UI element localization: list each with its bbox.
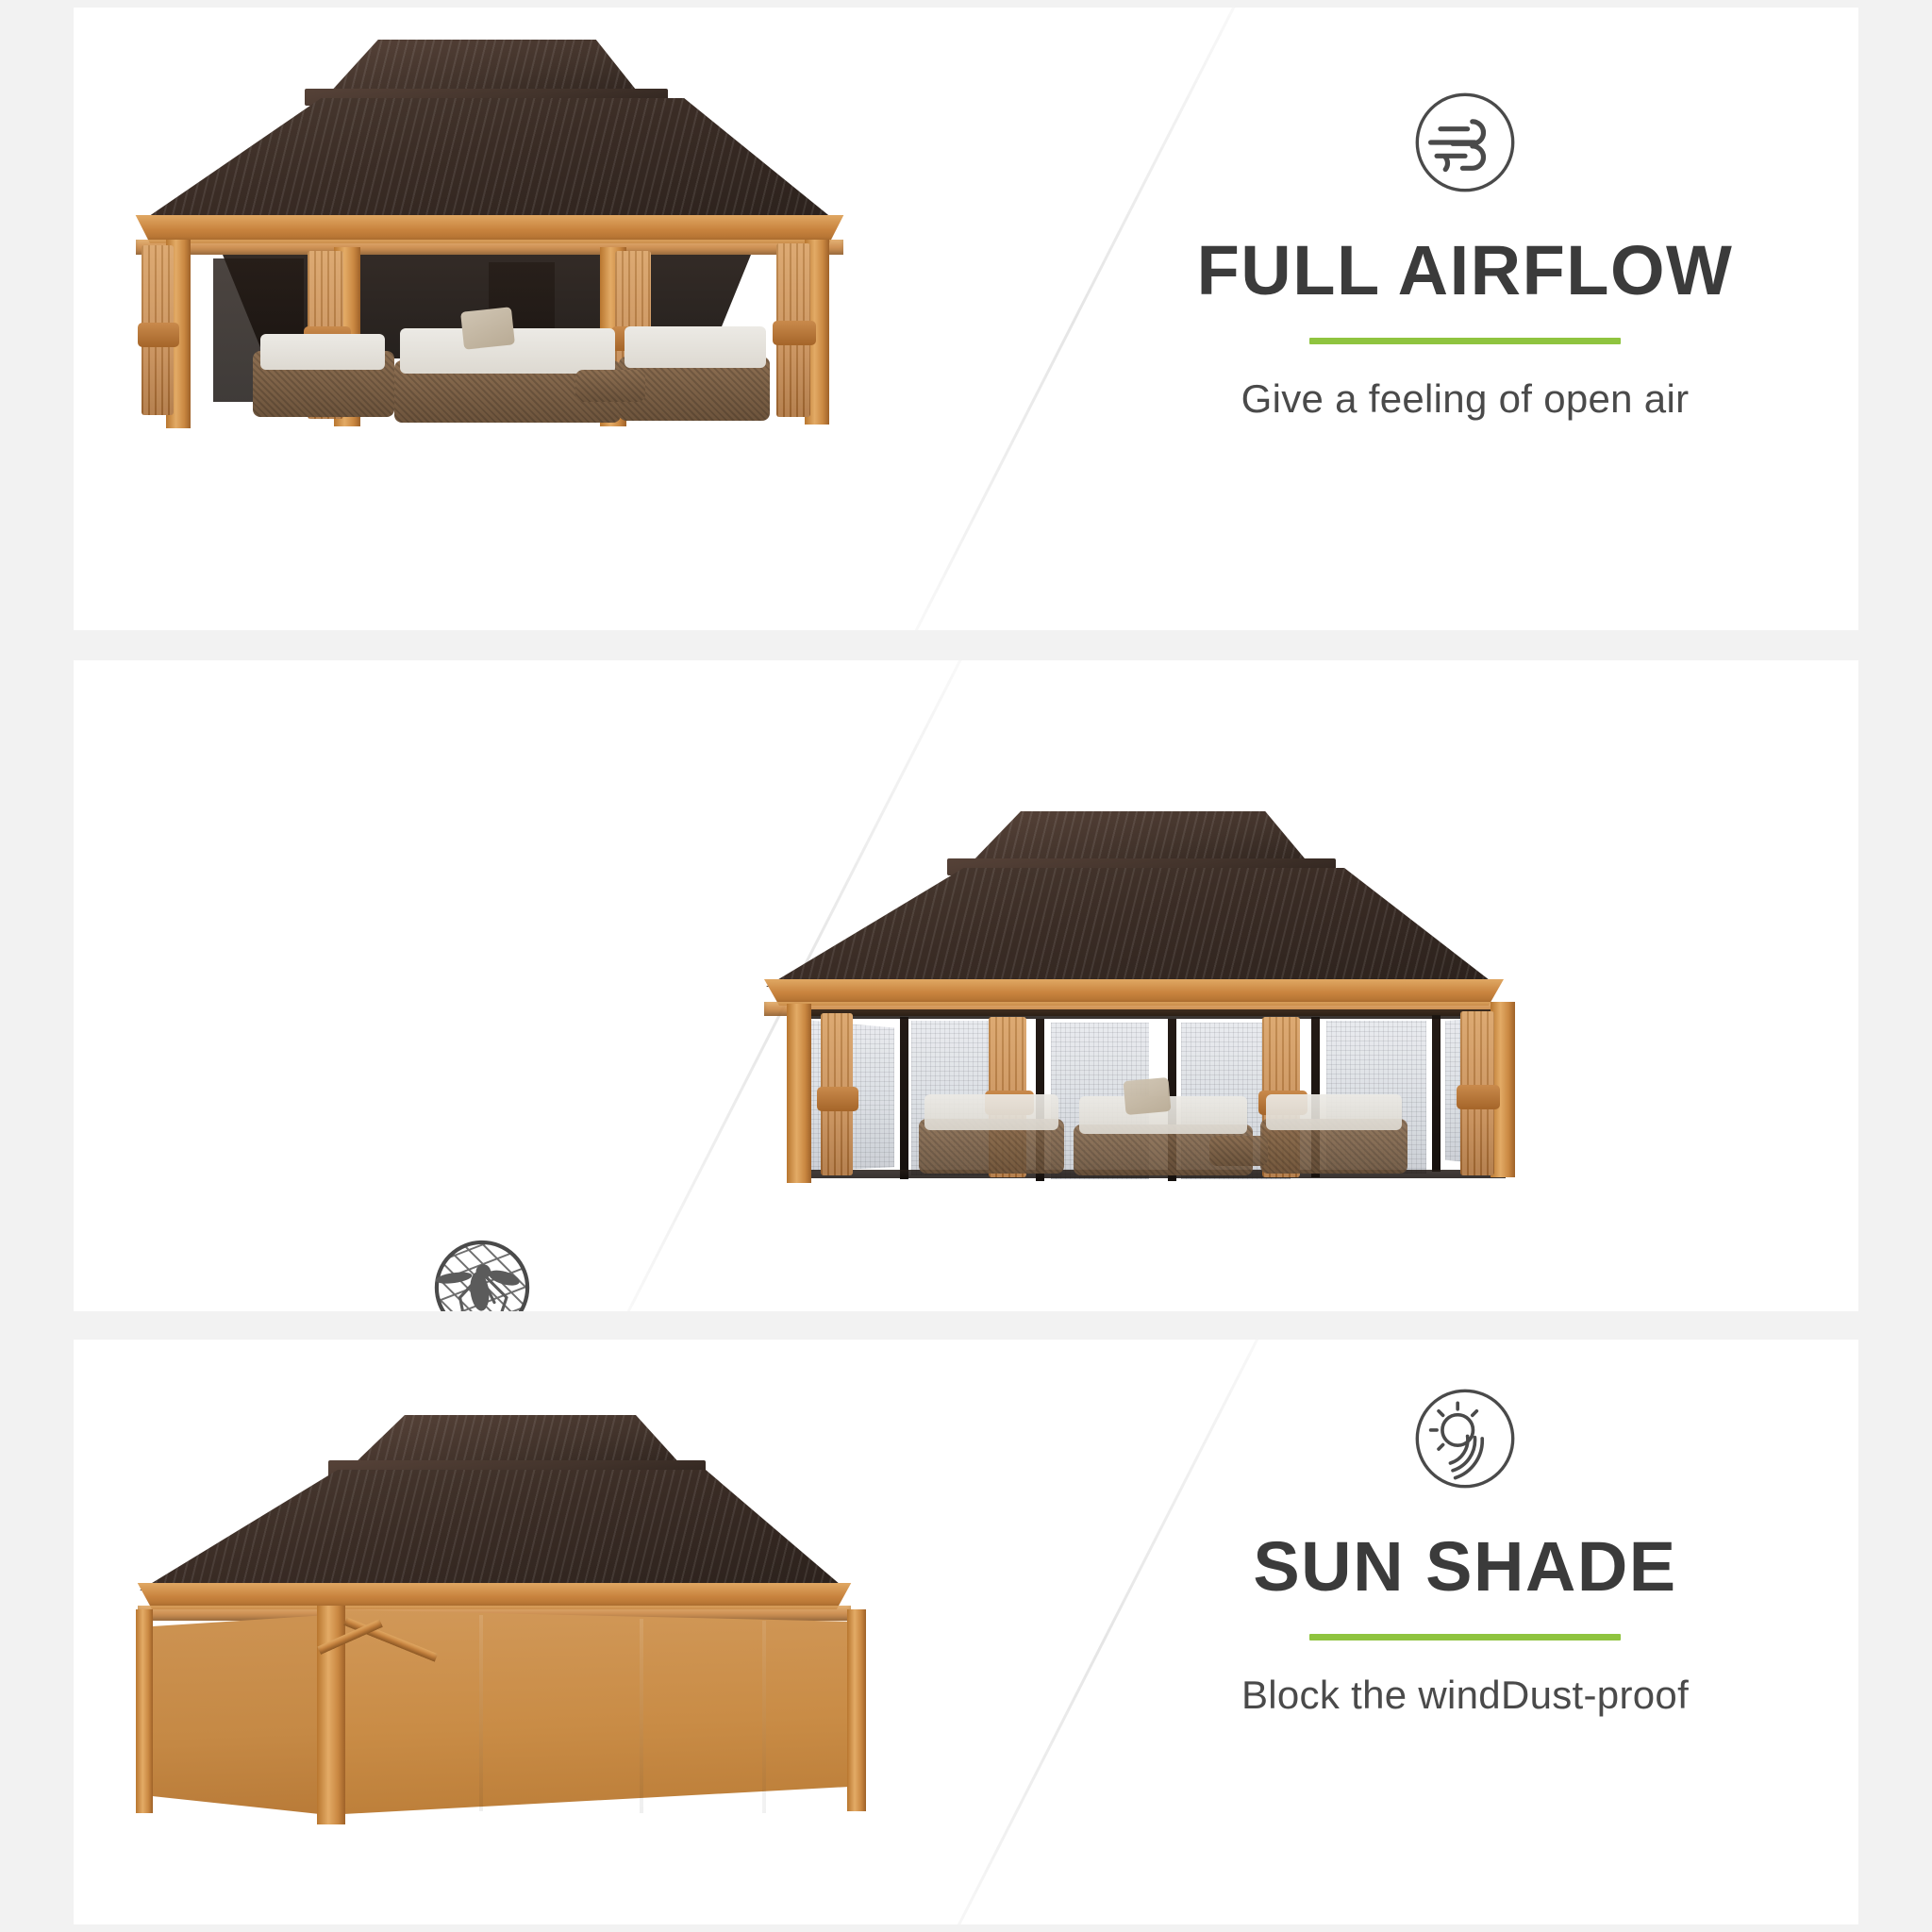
roof-upper bbox=[352, 1415, 682, 1466]
roof-fascia-beam-2 bbox=[136, 240, 843, 255]
curtain-tie-right bbox=[773, 321, 816, 345]
feature-panels-page: FULL AIRFLOW Give a feeling of open air bbox=[0, 0, 1932, 1932]
panel-title: SUN SHADE bbox=[1069, 1532, 1858, 1602]
gazebo-closed-curtains-illustration bbox=[102, 1415, 866, 1858]
accent-rule bbox=[1309, 338, 1621, 344]
roof-upper bbox=[970, 811, 1309, 864]
curtain-tie-left bbox=[138, 323, 179, 347]
feature-text-mosquito: ANTI-MOSQUITO Keep ventilated bbox=[109, 1226, 855, 1311]
roof-main bbox=[140, 98, 838, 223]
wall-seam-2 bbox=[640, 1619, 643, 1813]
panel-subtitle: Block the windDust-proof bbox=[1069, 1673, 1858, 1718]
panel-full-airflow: FULL AIRFLOW Give a feeling of open air bbox=[74, 8, 1858, 630]
gazebo-mesh-screens-illustration bbox=[734, 811, 1526, 1207]
pillow-center bbox=[460, 307, 515, 349]
side-table bbox=[1209, 1136, 1268, 1166]
frame-mullion-5 bbox=[1432, 1015, 1441, 1172]
feature-text-sunshade: SUN SHADE Block the windDust-proof bbox=[1069, 1377, 1858, 1718]
corner-post-left bbox=[787, 1004, 811, 1183]
panel-subtitle: Give a feeling of open air bbox=[1069, 376, 1858, 422]
frame-mullion-1 bbox=[900, 1017, 908, 1179]
pillow-center bbox=[1124, 1077, 1172, 1115]
mosquito-net-icon bbox=[109, 1226, 855, 1311]
sofa-cushion-left bbox=[924, 1094, 1058, 1130]
sofa-cushion-left bbox=[260, 334, 385, 370]
sofa-cushion-right bbox=[625, 326, 766, 368]
panel-title: FULL AIRFLOW bbox=[1069, 236, 1858, 306]
panel-sun-shade: SUN SHADE Block the windDust-proof bbox=[74, 1340, 1858, 1924]
coffee-table bbox=[575, 370, 645, 402]
accent-rule bbox=[1309, 1634, 1621, 1641]
roof-main bbox=[766, 868, 1498, 987]
panel-anti-mosquito: ANTI-MOSQUITO Keep ventilated bbox=[74, 660, 1858, 1311]
wall-seam-3 bbox=[762, 1621, 766, 1813]
closed-curtain-wall-front bbox=[326, 1609, 858, 1815]
gazebo-open-curtains-illustration bbox=[111, 40, 866, 436]
roof-main bbox=[140, 1470, 847, 1591]
wind-icon bbox=[1069, 81, 1858, 204]
roof-upper bbox=[328, 40, 640, 94]
curtain-tie-right bbox=[1457, 1085, 1500, 1109]
sofa-cushion-right bbox=[1266, 1094, 1402, 1130]
sun-shade-icon bbox=[1069, 1377, 1858, 1500]
frame-header-rail bbox=[800, 1009, 1507, 1019]
curtain-tie-left bbox=[817, 1087, 858, 1111]
corner-post-right bbox=[847, 1609, 866, 1811]
closed-curtain-wall-left bbox=[142, 1615, 328, 1815]
wall-seam-1 bbox=[479, 1615, 483, 1811]
feature-text-airflow: FULL AIRFLOW Give a feeling of open air bbox=[1069, 81, 1858, 422]
corner-post-far-left bbox=[136, 1609, 153, 1813]
